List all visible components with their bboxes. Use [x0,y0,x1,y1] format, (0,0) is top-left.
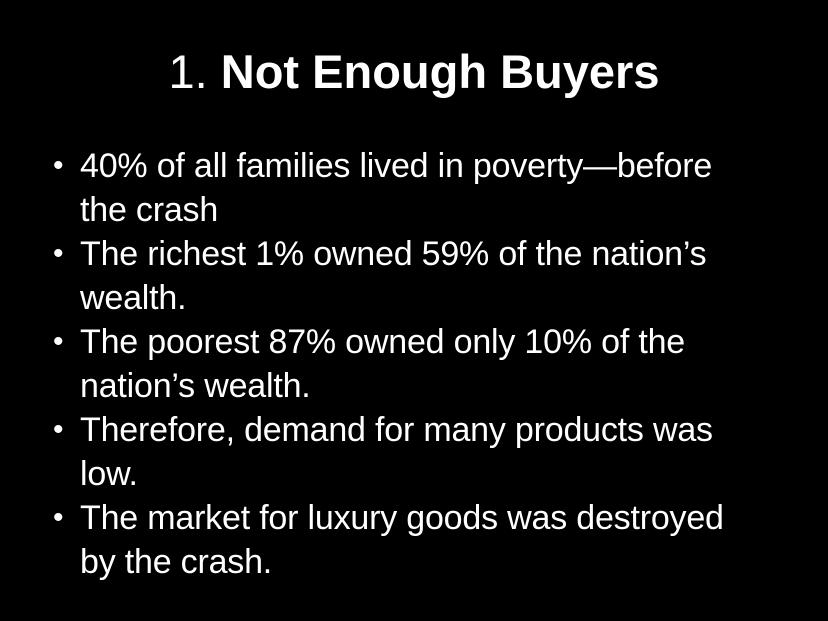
list-item-text: The richest 1% owned 59% of the nation’s… [80,232,755,320]
slide-title-number: 1. [169,45,221,98]
list-item-text: The market for luxury goods was destroye… [80,496,755,584]
list-item: • The market for luxury goods was destro… [44,496,755,584]
list-item: • Therefore, demand for many products wa… [44,408,755,496]
slide-title-main: Not Enough Buyers [221,45,660,98]
slide-title: 1. Not Enough Buyers [0,44,828,100]
list-item-text: Therefore, demand for many products was … [80,408,755,496]
bullet-dot-icon: • [53,320,73,364]
list-item: • The poorest 87% owned only 10% of the … [44,320,755,408]
list-item-text: The poorest 87% owned only 10% of the na… [80,320,755,408]
bullet-dot-icon: • [53,496,73,540]
presentation-slide: 1. Not Enough Buyers • 40% of all famili… [0,0,828,621]
list-item: • 40% of all families lived in poverty—b… [44,144,755,232]
bullet-dot-icon: • [53,144,73,188]
bullet-dot-icon: • [53,408,73,452]
bullet-dot-icon: • [53,232,73,276]
list-item-text: 40% of all families lived in poverty—bef… [80,144,755,232]
list-item: • The richest 1% owned 59% of the nation… [44,232,755,320]
bullet-list: • 40% of all families lived in poverty—b… [44,144,784,584]
